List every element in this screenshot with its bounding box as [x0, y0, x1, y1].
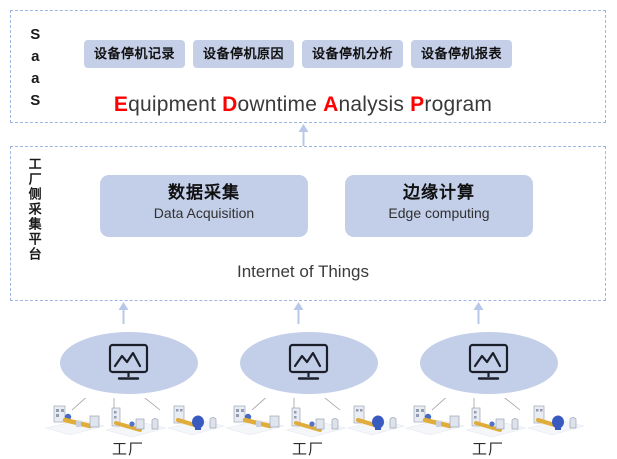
factory-machines-illustration: [388, 398, 588, 438]
data-acquisition-cn-label: 数据采集: [100, 184, 308, 203]
monitor-chart-icon: [466, 343, 511, 383]
edge-layer-side-label: 工厂侧采集平台: [27, 157, 41, 262]
module-chip-downtime-record[interactable]: 设备停机记录: [84, 40, 185, 68]
capability-box-data-acquisition[interactable]: 数据采集 Data Acquisition: [100, 175, 308, 237]
edge-computing-en-label: Edge computing: [345, 205, 533, 221]
title-part-d: D: [222, 93, 237, 116]
factory-group-1: 工厂: [28, 320, 228, 455]
module-chip-downtime-reason[interactable]: 设备停机原因: [193, 40, 294, 68]
title-part-quipment: quipment: [128, 93, 222, 116]
title-part-nalysis: nalysis: [339, 93, 411, 116]
arrow-up-edge-to-saas: [298, 124, 309, 146]
factory-caption: 工厂: [388, 438, 588, 459]
factory-caption: 工厂: [28, 438, 228, 459]
factory-machines-illustration: [208, 398, 408, 438]
factory-group-3: 工厂: [388, 320, 588, 455]
capability-box-edge-computing[interactable]: 边缘计算 Edge computing: [345, 175, 533, 237]
monitor-chart-icon: [106, 343, 151, 383]
factory-machines-illustration: [28, 398, 228, 438]
edge-computing-cn-label: 边缘计算: [345, 184, 533, 203]
title-part-owntime: owntime: [238, 93, 324, 116]
monitor-chart-icon: [286, 343, 331, 383]
module-chip-downtime-report[interactable]: 设备停机报表: [411, 40, 512, 68]
module-chip-downtime-analysis[interactable]: 设备停机分析: [302, 40, 403, 68]
data-acquisition-en-label: Data Acquisition: [100, 205, 308, 221]
iot-caption: Internet of Things: [0, 262, 606, 282]
factory-caption: 工厂: [208, 438, 408, 459]
title-part-p: P: [410, 93, 424, 116]
factory-group-2: 工厂: [208, 320, 408, 455]
saas-module-row: 设备停机记录 设备停机原因 设备停机分析 设备停机报表: [84, 40, 512, 68]
title-part-rogram: rogram: [424, 93, 492, 116]
title-part-a: A: [323, 93, 338, 116]
title-part-e: E: [114, 93, 128, 116]
program-title: Equipment Downtime Analysis Program: [0, 93, 606, 117]
